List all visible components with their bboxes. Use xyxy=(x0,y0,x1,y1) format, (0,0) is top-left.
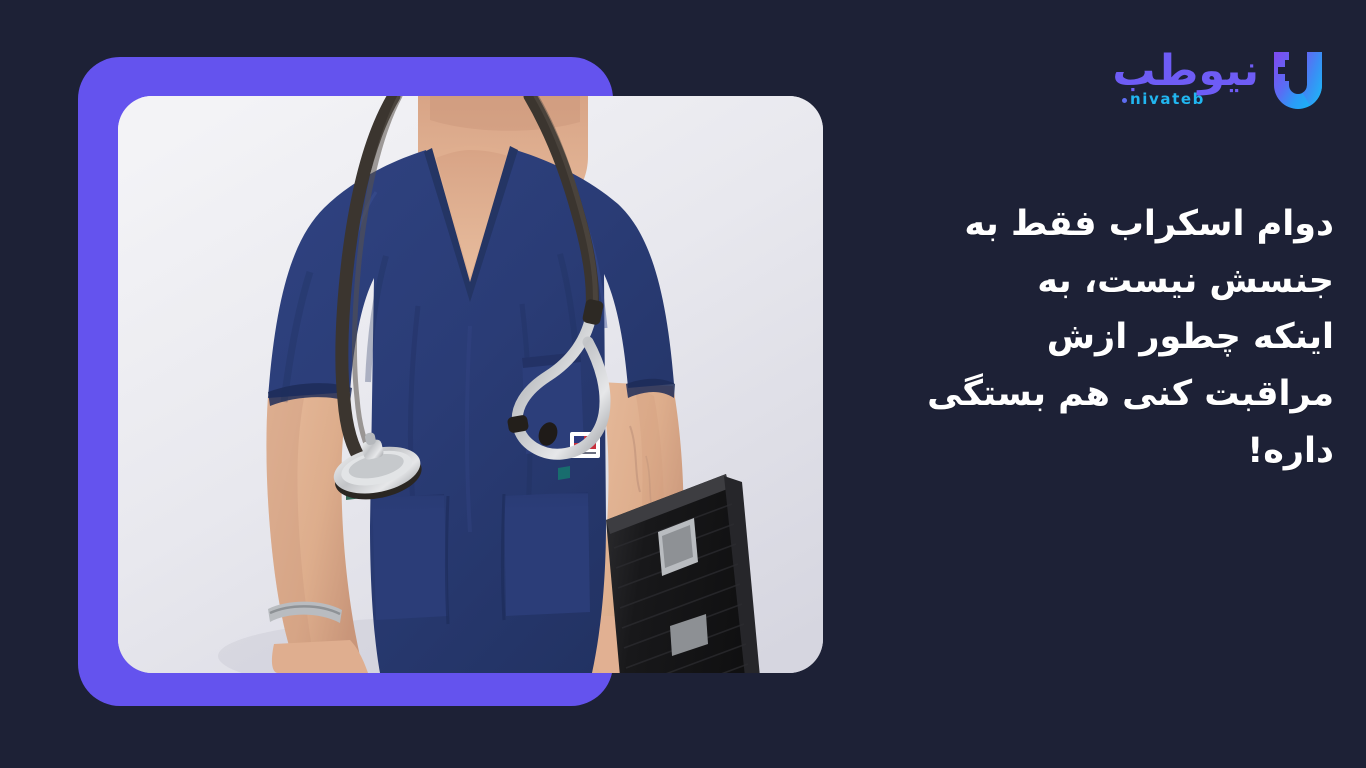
brand-name-en-text: nivateb xyxy=(1130,90,1205,108)
brand-logo[interactable]: نیوطب nivateb xyxy=(1087,48,1328,110)
headline-line-3: اینکه چطور ازش xyxy=(864,309,1334,366)
headline-line-1: دوام اسکراب فقط به xyxy=(864,196,1334,253)
brand-name-en: nivateb xyxy=(1122,92,1205,107)
doctor-in-navy-scrubs-photo xyxy=(118,96,823,673)
headline-line-2: جنسش نیست، به xyxy=(864,253,1334,310)
brand-name-fa: نیوطب xyxy=(1112,50,1259,93)
brand-wordmark: نیوطب nivateb xyxy=(1087,48,1259,110)
nivateb-u-plus-logo-icon xyxy=(1268,48,1328,110)
promo-banner: نیوطب nivateb دوام اسکراب فقط به جنسش نی… xyxy=(0,0,1366,768)
headline-line-4: مراقبت کنی هم بستگی xyxy=(864,366,1334,423)
headline-line-5: داره! xyxy=(864,423,1334,480)
headline: دوام اسکراب فقط به جنسش نیست، به اینکه چ… xyxy=(864,196,1334,479)
bullet-dot-icon xyxy=(1122,98,1127,103)
